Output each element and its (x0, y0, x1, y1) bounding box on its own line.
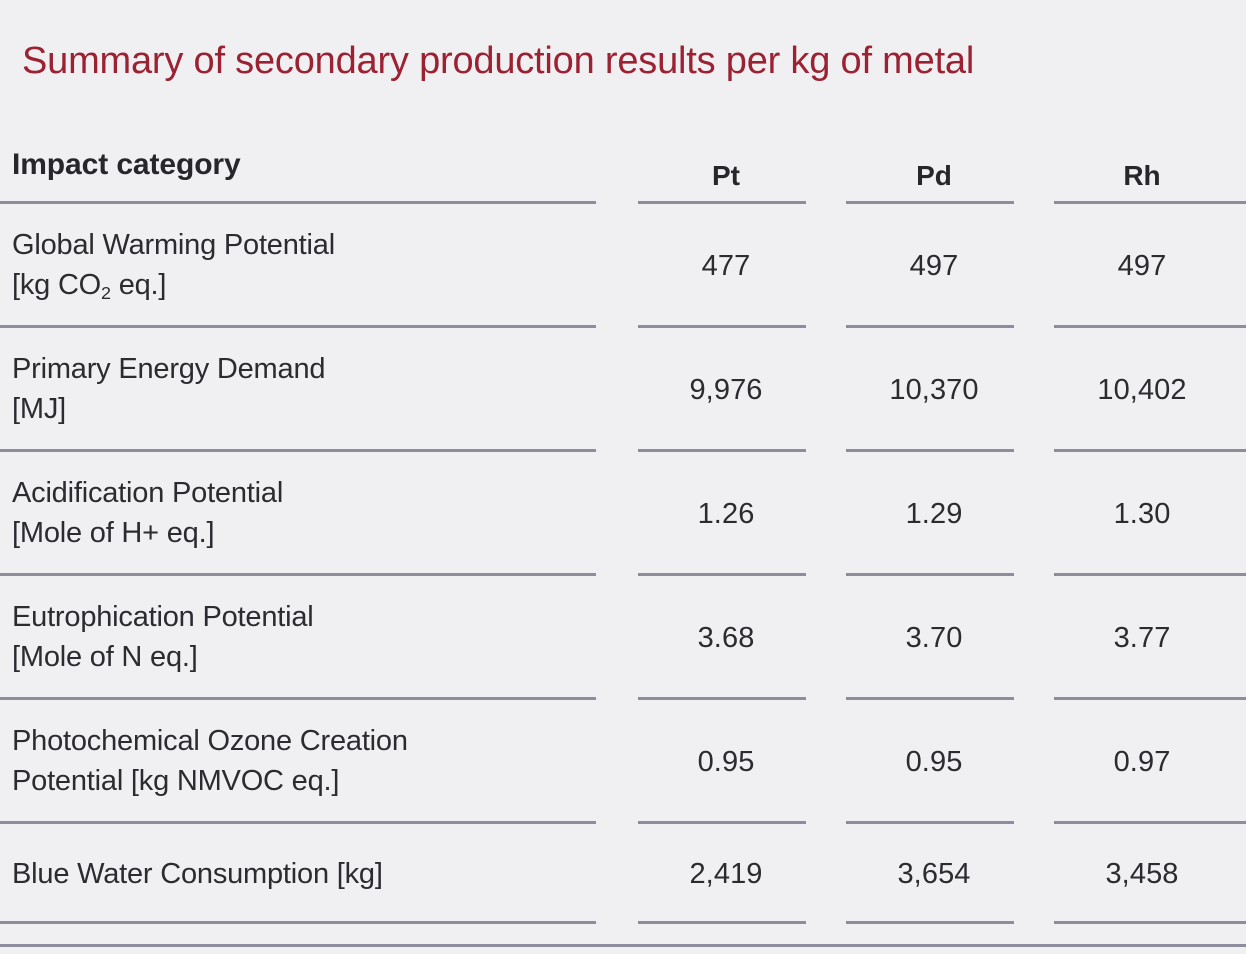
row-value-rh: 497 (1038, 204, 1246, 328)
row-category-cell: Photochemical Ozone Creation Potential [… (0, 700, 622, 824)
value-text: 3.77 (1114, 622, 1171, 655)
row-category-cell: Global Warming Potential [kg CO2 eq.] (0, 204, 622, 328)
results-table: Impact category Pt Pd Rh (0, 126, 1246, 924)
value-text: 3.68 (698, 622, 755, 655)
row-category-label: Primary Energy Demand [MJ] (12, 349, 325, 432)
row-value-rh: 1.30 (1038, 452, 1246, 576)
category-line-1: Acidification Potential (12, 477, 283, 509)
row-value-rh: 3.77 (1038, 576, 1246, 700)
category-line-1: Primary Energy Demand (12, 353, 325, 385)
row-value-pd: 497 (830, 204, 1038, 328)
value-text: 0.95 (698, 746, 755, 779)
row-value-pt: 1.26 (622, 452, 830, 576)
header-cell-pd: Pd (830, 126, 1038, 204)
table-bottom-rule (0, 944, 1246, 947)
category-line-1: Eutrophication Potential (12, 601, 314, 633)
row-category-cell: Primary Energy Demand [MJ] (0, 328, 622, 452)
row-value-rh: 0.97 (1038, 700, 1246, 824)
category-line-2-pre: [kg CO (12, 269, 101, 301)
category-line-1: Global Warming Potential (12, 229, 335, 261)
row-value-pt: 3.68 (622, 576, 830, 700)
value-text: 2,419 (689, 858, 762, 891)
page-title: Summary of secondary production results … (22, 38, 974, 84)
category-line-2-pre: Potential [kg NMVOC eq.] (12, 765, 339, 797)
row-category-label: Global Warming Potential [kg CO2 eq.] (12, 225, 335, 308)
row-value-rh: 3,458 (1038, 824, 1246, 924)
header-label-pt: Pt (712, 160, 740, 192)
row-value-rh: 10,402 (1038, 328, 1246, 452)
row-category-cell: Eutrophication Potential [Mole of N eq.] (0, 576, 622, 700)
value-text: 477 (702, 250, 751, 283)
table-header-row: Impact category Pt Pd Rh (0, 126, 1246, 204)
value-text: 3.70 (906, 622, 963, 655)
header-label-pd: Pd (916, 160, 952, 192)
value-text: 3,654 (897, 858, 970, 891)
category-line-1: Photochemical Ozone Creation (12, 725, 408, 757)
row-value-pd: 3.70 (830, 576, 1038, 700)
value-text: 3,458 (1105, 858, 1178, 891)
value-text: 1.29 (906, 498, 963, 531)
header-cell-category: Impact category (0, 126, 622, 204)
value-text: 497 (1118, 250, 1167, 283)
header-cell-rh: Rh (1038, 126, 1246, 204)
table-row: Blue Water Consumption [kg] 2,419 3,654 … (0, 824, 1246, 924)
value-text: 10,402 (1097, 374, 1186, 407)
table-row: Acidification Potential [Mole of H+ eq.]… (0, 452, 1246, 576)
row-category-label: Blue Water Consumption [kg] (12, 854, 383, 894)
value-text: 497 (910, 250, 959, 283)
header-label-rh: Rh (1123, 160, 1160, 192)
row-category-cell: Acidification Potential [Mole of H+ eq.] (0, 452, 622, 576)
row-category-label: Acidification Potential [Mole of H+ eq.] (12, 473, 283, 556)
row-value-pd: 10,370 (830, 328, 1038, 452)
row-category-label: Photochemical Ozone Creation Potential [… (12, 721, 408, 804)
row-value-pt: 2,419 (622, 824, 830, 924)
row-category-cell: Blue Water Consumption [kg] (0, 824, 622, 924)
row-category-label: Eutrophication Potential [Mole of N eq.] (12, 597, 314, 680)
value-text: 1.30 (1114, 498, 1171, 531)
row-value-pt: 9,976 (622, 328, 830, 452)
value-text: 9,976 (689, 374, 762, 407)
category-line-2-post: eq.] (111, 269, 166, 301)
category-line-2-sub: 2 (101, 283, 111, 303)
row-value-pt: 477 (622, 204, 830, 328)
category-line-2-pre: [Mole of H+ eq.] (12, 517, 214, 549)
table-row: Photochemical Ozone Creation Potential [… (0, 700, 1246, 824)
header-cell-pt: Pt (622, 126, 830, 204)
table-page: Summary of secondary production results … (0, 0, 1246, 954)
row-value-pd: 0.95 (830, 700, 1038, 824)
table-row: Primary Energy Demand [MJ] 9,976 10,370 … (0, 328, 1246, 452)
table-row: Global Warming Potential [kg CO2 eq.] 47… (0, 204, 1246, 328)
value-text: 0.97 (1114, 746, 1171, 779)
value-text: 10,370 (889, 374, 978, 407)
value-text: 0.95 (906, 746, 963, 779)
category-line-1: Blue Water Consumption [kg] (12, 858, 383, 890)
header-label-category: Impact category (12, 148, 241, 182)
table-row: Eutrophication Potential [Mole of N eq.]… (0, 576, 1246, 700)
row-value-pd: 1.29 (830, 452, 1038, 576)
row-value-pt: 0.95 (622, 700, 830, 824)
value-text: 1.26 (698, 498, 755, 531)
category-line-2-pre: [Mole of N eq.] (12, 641, 198, 673)
row-value-pd: 3,654 (830, 824, 1038, 924)
category-line-2-pre: [MJ] (12, 393, 66, 425)
